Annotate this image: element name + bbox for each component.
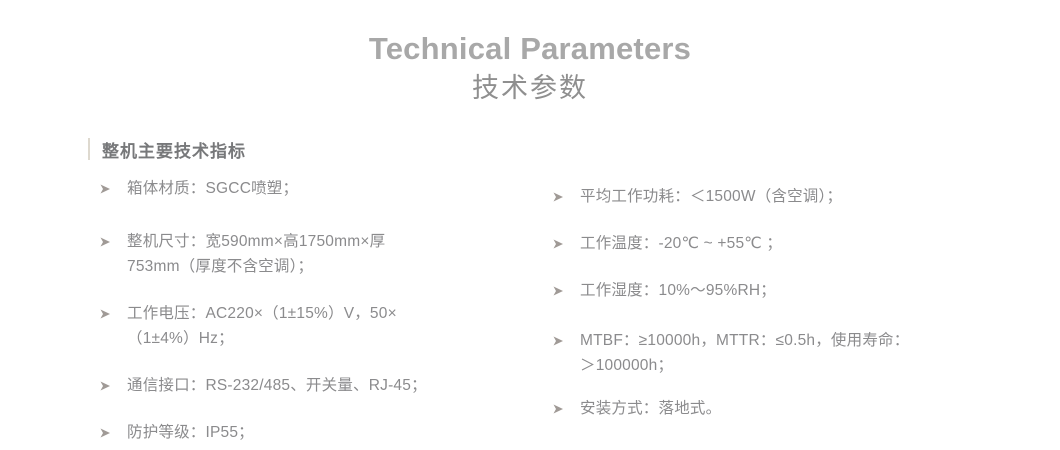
- arrow-right-triangle-icon: [553, 231, 567, 249]
- spec-text: 平均工作功耗：＜1500W（含空调）；: [580, 184, 1023, 209]
- spec-item: MTBF：≥10000h，MTTR：≤0.5h，使用寿命： ＞100000h；: [553, 328, 1023, 378]
- spec-text: 工作湿度：10%～95%RH；: [580, 278, 1023, 303]
- technical-parameters-page: Technical Parameters 技术参数 整机主要技术指标 箱体材质：…: [0, 0, 1060, 450]
- spec-item: 整机尺寸：宽590mm×高1750mm×厚 753mm（厚度不含空调）；: [100, 229, 520, 279]
- arrow-right-triangle-icon: [100, 229, 114, 247]
- arrow-right-triangle-icon: [553, 278, 567, 296]
- spec-item: 箱体材质：SGCC喷塑；: [100, 176, 520, 201]
- spec-list-right: 平均工作功耗：＜1500W（含空调）； 工作温度：-20℃ ~ +55℃ ； 工…: [553, 176, 1023, 421]
- spec-text: 箱体材质：SGCC喷塑；: [127, 176, 520, 201]
- spec-item: 工作温度：-20℃ ~ +55℃ ；: [553, 231, 1023, 256]
- accent-bar-icon: [88, 138, 90, 160]
- spec-item: 平均工作功耗：＜1500W（含空调）；: [553, 184, 1023, 209]
- spec-text: 工作温度：-20℃ ~ +55℃ ；: [580, 231, 1023, 256]
- arrow-right-triangle-icon: [553, 184, 567, 202]
- spec-text: 通信接口：RS-232/485、开关量、RJ-45；: [127, 373, 520, 398]
- spec-text: 防护等级：IP55；: [127, 420, 520, 445]
- spec-item: 防护等级：IP55；: [100, 420, 520, 445]
- spec-text: 工作电压：AC220×（1±15%）V，50× （1±4%）Hz；: [127, 301, 520, 351]
- spec-text: 安装方式：落地式。: [580, 396, 1023, 421]
- page-header: Technical Parameters 技术参数: [0, 30, 1060, 106]
- page-title-english: Technical Parameters: [0, 30, 1060, 68]
- arrow-right-triangle-icon: [100, 373, 114, 391]
- spec-list-left: 箱体材质：SGCC喷塑； 整机尺寸：宽590mm×高1750mm×厚 753mm…: [100, 176, 520, 445]
- spec-text: MTBF：≥10000h，MTTR：≤0.5h，使用寿命： ＞100000h；: [580, 328, 1023, 378]
- arrow-right-triangle-icon: [553, 328, 567, 346]
- spec-item: 工作电压：AC220×（1±15%）V，50× （1±4%）Hz；: [100, 301, 520, 351]
- spec-text: 整机尺寸：宽590mm×高1750mm×厚 753mm（厚度不含空调）；: [127, 229, 520, 279]
- arrow-right-triangle-icon: [100, 420, 114, 438]
- section-heading-label: 整机主要技术指标: [102, 137, 246, 162]
- spec-item: 安装方式：落地式。: [553, 396, 1023, 421]
- page-title-chinese: 技术参数: [0, 70, 1060, 106]
- arrow-right-triangle-icon: [100, 301, 114, 319]
- spec-item: 工作湿度：10%～95%RH；: [553, 278, 1023, 303]
- arrow-right-triangle-icon: [100, 176, 114, 194]
- section-heading: 整机主要技术指标: [88, 136, 246, 162]
- spec-item: 通信接口：RS-232/485、开关量、RJ-45；: [100, 373, 520, 398]
- arrow-right-triangle-icon: [553, 396, 567, 414]
